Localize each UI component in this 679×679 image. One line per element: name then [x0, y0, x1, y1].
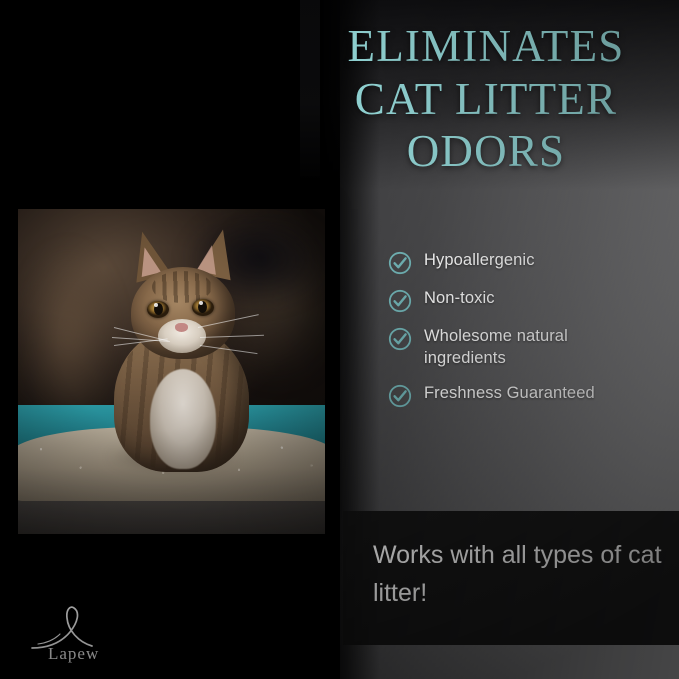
list-item: Freshness Guaranteed [388, 383, 668, 408]
check-circle-icon [388, 289, 412, 313]
photo-vignette [18, 209, 325, 534]
list-item: Non-toxic [388, 288, 668, 313]
feature-label: Wholesome natural ingredients [424, 326, 634, 370]
callout-box: Works with all types of cat litter! [343, 511, 679, 645]
callout-text: Works with all types of cat litter! [373, 537, 663, 612]
cat-photo [18, 209, 325, 534]
headline-line-3: ODORS [300, 125, 672, 178]
feature-label: Hypoallergenic [424, 250, 535, 272]
brand-logo: Lapew [26, 604, 186, 664]
feature-label: Freshness Guaranteed [424, 383, 595, 405]
headline: ELIMINATES CAT LITTER ODORS [300, 20, 672, 178]
headline-line-2: CAT LITTER [300, 73, 672, 126]
feature-list: Hypoallergenic Non-toxic Wholesome natur… [388, 250, 668, 421]
check-circle-icon [388, 327, 412, 351]
feature-label: Non-toxic [424, 288, 495, 310]
list-item: Hypoallergenic [388, 250, 668, 275]
check-circle-icon [388, 384, 412, 408]
list-item: Wholesome natural ingredients [388, 326, 668, 370]
check-circle-icon [388, 251, 412, 275]
headline-line-1: ELIMINATES [300, 20, 672, 73]
brand-name: Lapew [48, 644, 99, 664]
product-ad-image: ELIMINATES CAT LITTER ODORS [0, 0, 679, 679]
